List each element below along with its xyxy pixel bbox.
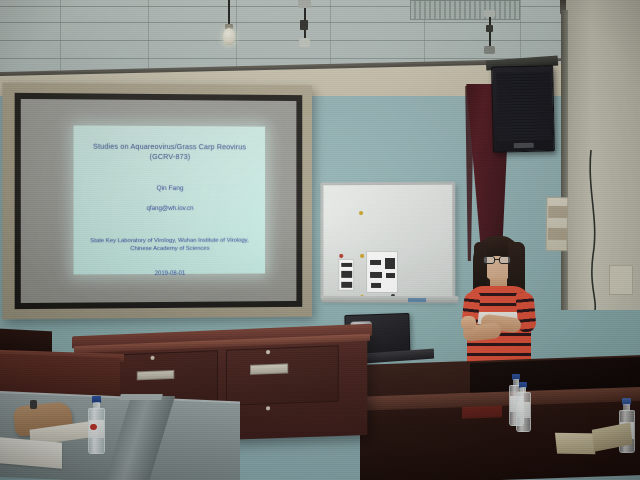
presenter-hand bbox=[461, 316, 476, 330]
speaker-label bbox=[514, 143, 534, 148]
water-bottle-right bbox=[516, 382, 531, 432]
slide-date: 2019-08-01 bbox=[84, 269, 255, 278]
wall-speaker bbox=[491, 65, 555, 152]
right-partition-edge bbox=[561, 10, 568, 310]
whiteboard-marker-tray bbox=[321, 296, 458, 304]
lectern-panel-right bbox=[226, 345, 339, 406]
projection-screen: Studies on Aquareovirus/Grass Carp Reovi… bbox=[2, 83, 312, 320]
glasses-lens-left bbox=[483, 256, 495, 264]
projected-slide: Studies on Aquareovirus/Grass Carp Reovi… bbox=[74, 126, 265, 275]
whiteboard-marker bbox=[408, 298, 426, 302]
whiteboard-paper-center bbox=[366, 251, 398, 293]
slide-author: Qin Fang bbox=[84, 184, 255, 193]
book-page-left bbox=[555, 433, 595, 455]
slide-title: Studies on Aquareovirus/Grass Carp Reovi… bbox=[84, 142, 255, 163]
book-page-right bbox=[592, 422, 633, 451]
table-divider-rail-top bbox=[119, 394, 163, 400]
lectern-nameplate-right bbox=[250, 363, 288, 375]
whiteboard bbox=[320, 182, 455, 301]
wall-notice-paper bbox=[546, 197, 569, 251]
lectern-nameplate-left bbox=[137, 370, 175, 380]
glasses-bridge bbox=[495, 259, 500, 260]
screen-frame: Studies on Aquareovirus/Grass Carp Reovi… bbox=[15, 93, 303, 309]
slide-email: qfang@wh.iov.cn bbox=[84, 204, 255, 213]
slide-affiliation: State Key Laboratory of Virology, Wuhan … bbox=[84, 237, 255, 254]
ceiling-vent bbox=[410, 0, 520, 20]
whiteboard-paper-left bbox=[338, 259, 354, 291]
screen-surface: Studies on Aquareovirus/Grass Carp Reovi… bbox=[21, 99, 297, 303]
glasses-lens-right bbox=[499, 256, 511, 264]
lectern-knob-4 bbox=[266, 406, 270, 410]
bag-clip bbox=[30, 400, 37, 409]
photo-scene: Studies on Aquareovirus/Grass Carp Reovi… bbox=[0, 0, 640, 480]
speaker-grille bbox=[496, 71, 551, 140]
water-bottle-front bbox=[88, 396, 105, 454]
paper-stack bbox=[0, 437, 62, 468]
wall-notice-paper-2 bbox=[609, 265, 633, 295]
